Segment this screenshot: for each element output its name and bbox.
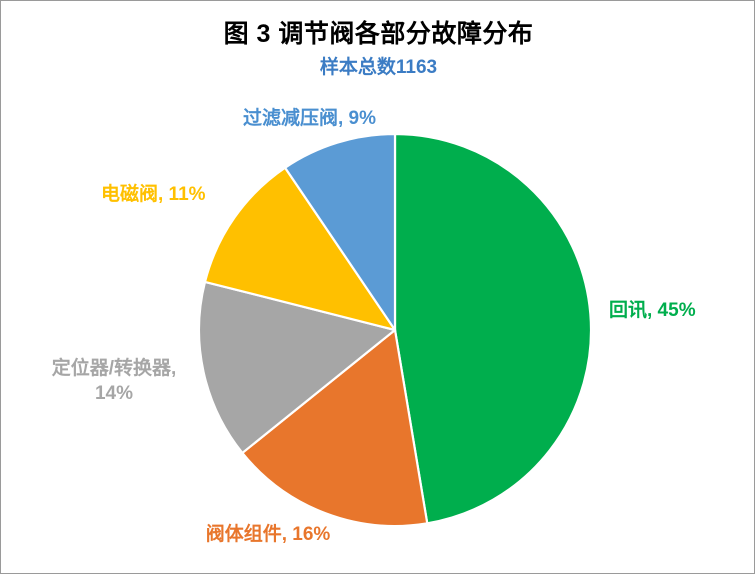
pie-label-dingweiqi-zhuanhuanqi: 定位器/转换器, 14%	[19, 356, 209, 406]
chart-title: 图 3 调节阀各部分故障分布	[1, 14, 755, 50]
pie-label-huixun: 回讯, 45%	[609, 298, 696, 323]
pie-label-fatizujian: 阀体组件, 16%	[173, 522, 363, 547]
pie-label-diancifa: 电磁阀, 11%	[101, 182, 206, 207]
pie-svg	[197, 132, 593, 528]
chart-subtitle: 样本总数1163	[1, 52, 755, 79]
chart-figure: 图 3 调节阀各部分故障分布 样本总数1163 回讯, 45% 阀体组件, 16…	[0, 0, 755, 574]
pie-chart-plot-area	[197, 132, 593, 528]
pie-label-guolvjianyafa: 过滤减压阀, 9%	[243, 106, 376, 131]
pie-slice-0[interactable]	[395, 134, 591, 523]
